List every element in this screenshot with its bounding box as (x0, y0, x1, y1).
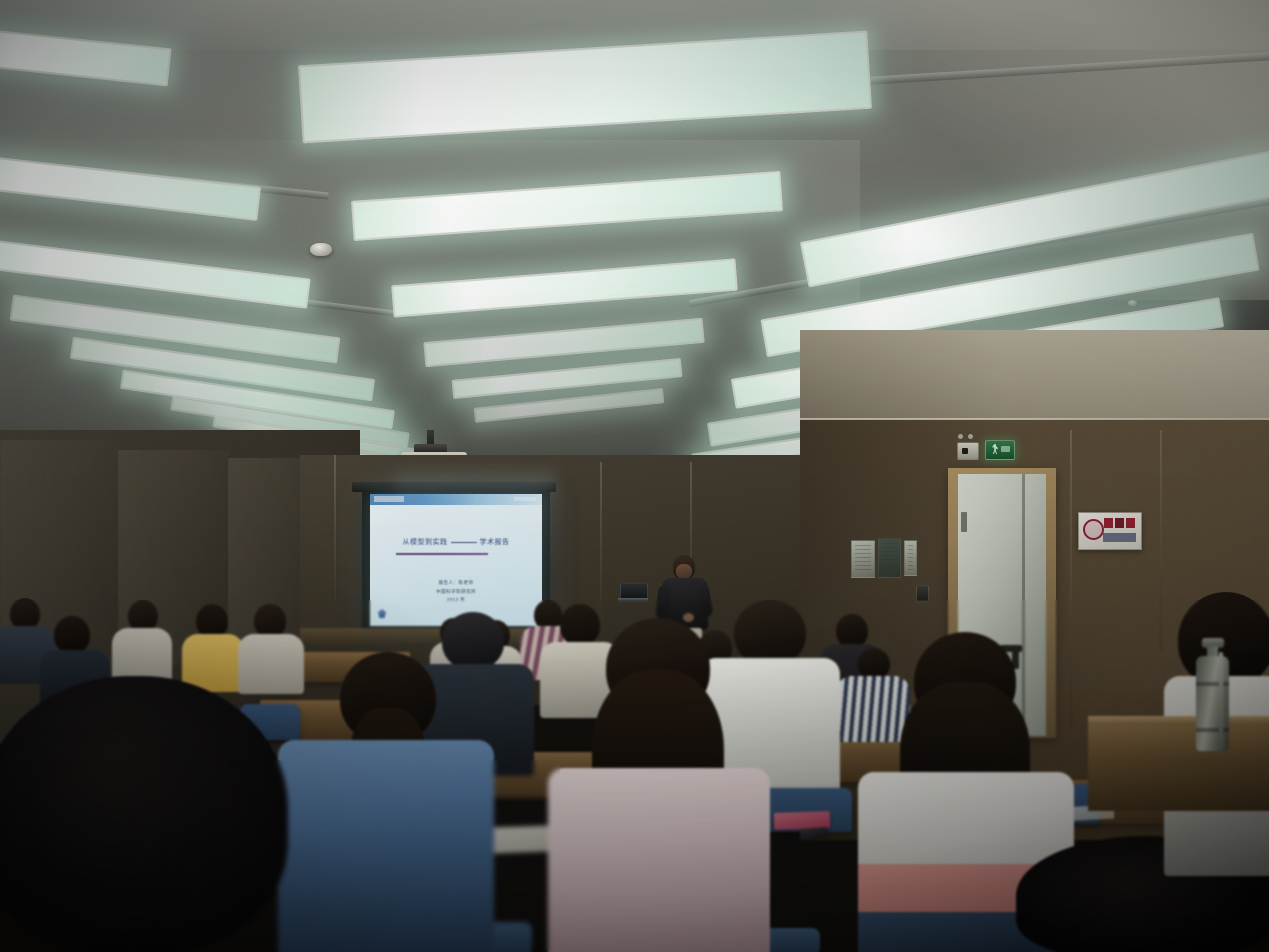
slide-title: 从模型到实践 学术报告 (384, 537, 528, 547)
notice-large (851, 540, 875, 578)
placard-subtext (1103, 533, 1136, 542)
attendee-body (548, 768, 770, 952)
safety-placard (1078, 512, 1142, 550)
attendee-pink-top (548, 618, 770, 952)
device-dot (968, 434, 973, 439)
placard-char (1104, 518, 1113, 528)
exit-sign (985, 440, 1015, 460)
projection-screen: 从模型到实践 学术报告 报告人：陈老师 中国科学院研究所 2013 年 (370, 494, 542, 626)
slide-body: 从模型到实践 学术报告 报告人：陈老师 中国科学院研究所 2013 年 (370, 505, 542, 626)
slide-underline (396, 553, 488, 555)
slide-affiliation: 中国科学院研究所 (370, 588, 542, 597)
side-table-edge (1088, 716, 1269, 725)
smoke-detector (310, 243, 332, 256)
attendee-head (254, 604, 286, 638)
wall-seam (334, 455, 336, 655)
extinguisher-cylinder (1196, 656, 1229, 751)
slide-footer-logo (378, 609, 389, 618)
attendee-body (278, 740, 494, 952)
attendee (112, 600, 172, 680)
door-hinge (961, 512, 967, 532)
slide-title-right: 学术报告 (480, 537, 510, 547)
slide-byline: 报告人：陈老师 (370, 579, 542, 588)
attendee-head (0, 676, 288, 952)
slide-date: 2013 年 (370, 596, 542, 605)
phone (800, 827, 829, 840)
presenter-laptop (620, 583, 646, 602)
sensor-device-box (957, 442, 979, 460)
ceiling-dot (1128, 300, 1137, 306)
light-switch[interactable] (916, 585, 929, 602)
slide-title-left: 从模型到实践 (403, 537, 448, 547)
attendee-head (54, 616, 90, 654)
attendee-body (112, 628, 172, 682)
attendee-head (196, 604, 228, 638)
attendee-denim-jacket (278, 652, 494, 952)
placard-char (1126, 518, 1135, 528)
device-dot (958, 434, 963, 439)
extinguisher-hose (1219, 652, 1223, 748)
fire-extinguisher (1192, 636, 1234, 751)
exit-sign-text (1001, 446, 1010, 452)
notice-small (904, 540, 917, 576)
slide-title-dash (451, 542, 477, 543)
placard-seal-icon (1083, 519, 1104, 540)
slide-header-bar (370, 494, 542, 505)
presenter-face (676, 564, 692, 579)
wall-seam (1160, 430, 1162, 650)
foreground-head-left (0, 676, 288, 952)
slide-header-tab (374, 496, 404, 502)
slide-meta: 报告人：陈老师 中国科学院研究所 2013 年 (370, 579, 542, 605)
lecture-hall-photo: 从模型到实践 学术报告 报告人：陈老师 中国科学院研究所 2013 年 (0, 0, 1269, 952)
notice-medium (878, 538, 901, 578)
placard-char (1115, 518, 1124, 528)
side-table (1088, 716, 1269, 811)
slide-header-right (514, 497, 536, 501)
slide-logo-icon (378, 609, 386, 618)
